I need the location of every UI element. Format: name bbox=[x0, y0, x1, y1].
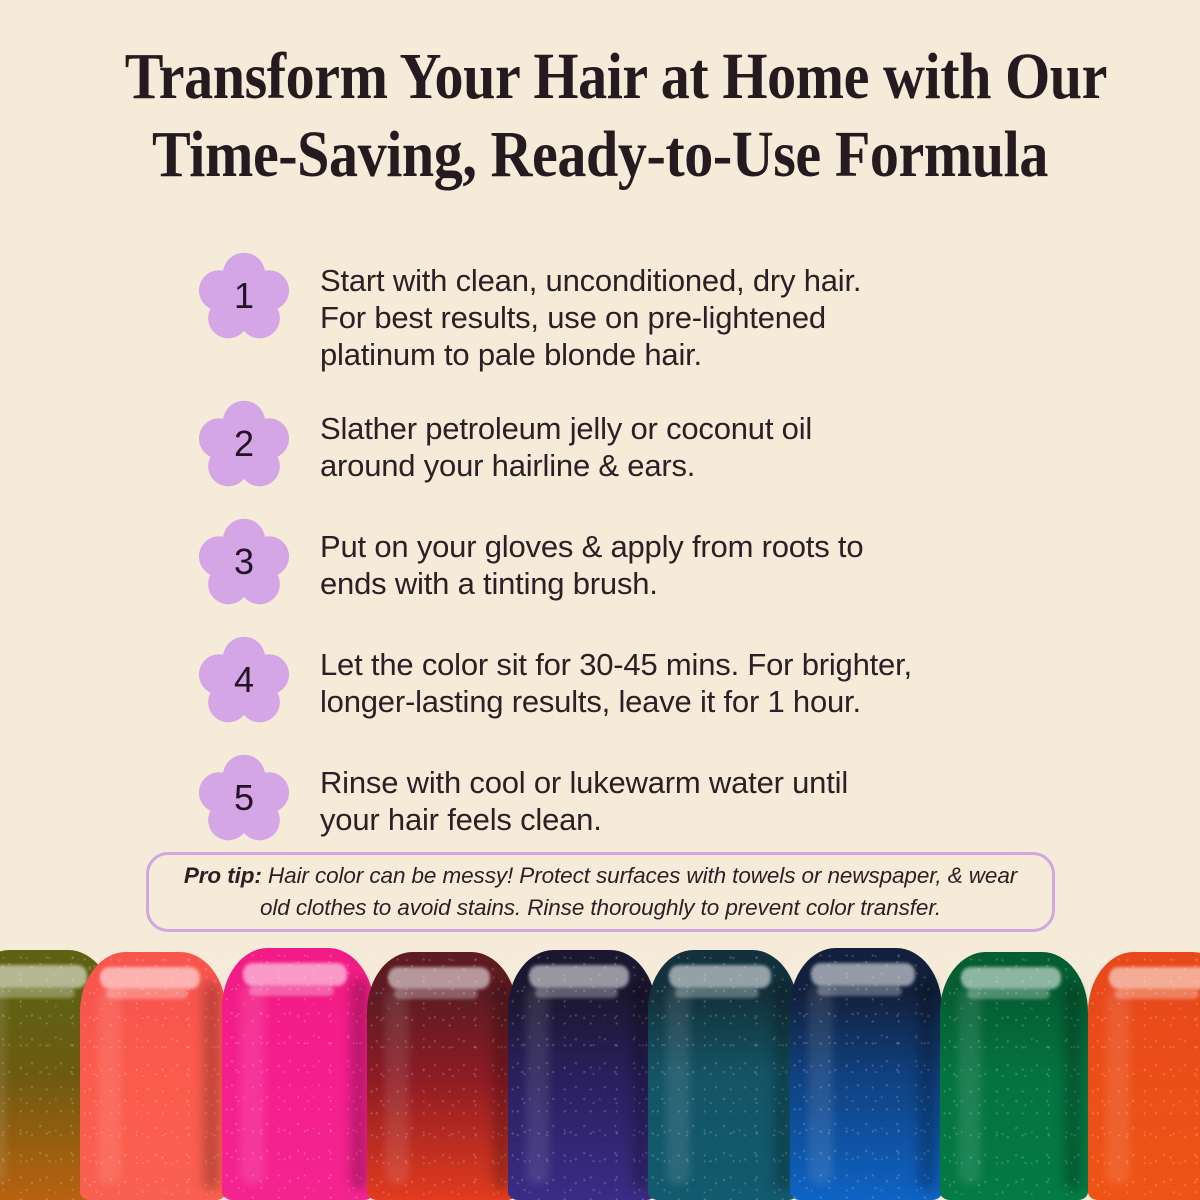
highlight-cap2 bbox=[249, 986, 334, 996]
highlight-side bbox=[666, 985, 690, 1185]
page-title-line-1: Transform Your Hair at Home with Our bbox=[125, 38, 1075, 116]
step-item: 4 Let the color sit for 30-45 mins. For … bbox=[198, 630, 1098, 726]
step-number: 5 bbox=[198, 752, 290, 844]
highlight-cap bbox=[811, 963, 914, 986]
highlight-cap bbox=[1109, 967, 1200, 989]
bottle-green bbox=[940, 952, 1088, 1200]
step-item: 3 Put on your gloves & apply from roots … bbox=[198, 512, 1098, 608]
highlight-cap2 bbox=[967, 989, 1050, 999]
flower-badge-icon: 4 bbox=[198, 634, 290, 726]
infographic-page: Transform Your Hair at Home with Our Tim… bbox=[0, 0, 1200, 1200]
highlight-cap2 bbox=[817, 986, 902, 996]
highlight-cap bbox=[100, 967, 199, 989]
highlight-side bbox=[958, 987, 982, 1185]
bottle-strip-image bbox=[0, 948, 1200, 1200]
highlight-cap bbox=[0, 965, 87, 988]
step-number: 2 bbox=[198, 398, 290, 490]
page-title-line-2: Time-Saving, Ready-to-Use Formula bbox=[125, 116, 1075, 194]
step-text: Rinse with cool or lukewarm water until … bbox=[320, 748, 848, 838]
highlight-cap bbox=[529, 965, 630, 988]
highlight-cap bbox=[243, 963, 346, 986]
pro-tip-label: Pro tip: bbox=[184, 863, 262, 888]
pro-tip-callout: Pro tip: Hair color can be messy! Protec… bbox=[146, 852, 1055, 932]
highlight-cap2 bbox=[106, 989, 188, 999]
steps-list: 1 Start with clean, unconditioned, dry h… bbox=[198, 246, 1098, 844]
step-text: Slather petroleum jelly or coconut oil a… bbox=[320, 394, 812, 484]
bottle-dark-red bbox=[367, 952, 517, 1200]
pro-tip-text: Pro tip: Hair color can be messy! Protec… bbox=[173, 860, 1028, 924]
flower-badge-icon: 3 bbox=[198, 516, 290, 608]
step-number: 4 bbox=[198, 634, 290, 726]
highlight-edge bbox=[203, 982, 221, 1190]
step-text: Let the color sit for 30-45 mins. For br… bbox=[320, 630, 912, 720]
bottle-royal-blue bbox=[790, 948, 942, 1200]
highlight-side bbox=[808, 983, 832, 1185]
highlight-side bbox=[98, 987, 121, 1185]
bottle-hot-pink bbox=[222, 948, 374, 1200]
highlight-side bbox=[385, 987, 409, 1185]
highlight-side bbox=[526, 985, 550, 1185]
step-text: Start with clean, unconditioned, dry hai… bbox=[320, 246, 861, 374]
step-number: 3 bbox=[198, 516, 290, 608]
highlight-edge bbox=[918, 978, 936, 1190]
highlight-cap bbox=[961, 967, 1062, 989]
highlight-cap2 bbox=[394, 989, 478, 999]
highlight-cap2 bbox=[0, 988, 75, 998]
page-title: Transform Your Hair at Home with Our Tim… bbox=[60, 38, 1140, 194]
highlight-edge bbox=[1064, 982, 1082, 1190]
bottle-indigo-purple bbox=[508, 950, 656, 1200]
step-item: 5 Rinse with cool or lukewarm water unti… bbox=[198, 748, 1098, 844]
highlight-cap2 bbox=[535, 988, 618, 998]
step-item: 1 Start with clean, unconditioned, dry h… bbox=[198, 246, 1098, 374]
highlight-edge bbox=[350, 978, 368, 1190]
highlight-side bbox=[1106, 987, 1130, 1185]
highlight-side bbox=[240, 983, 264, 1185]
flower-badge-icon: 2 bbox=[198, 398, 290, 490]
highlight-cap2 bbox=[675, 988, 759, 998]
flower-badge-icon: 5 bbox=[198, 752, 290, 844]
step-item: 2 Slather petroleum jelly or coconut oil… bbox=[198, 394, 1098, 490]
bottle-teal bbox=[648, 950, 798, 1200]
flower-badge-icon: 1 bbox=[198, 250, 290, 342]
highlight-cap bbox=[388, 967, 490, 989]
pro-tip-body: Hair color can be messy! Protect surface… bbox=[260, 863, 1017, 920]
highlight-cap2 bbox=[1115, 989, 1199, 999]
highlight-cap bbox=[669, 965, 771, 988]
step-number: 1 bbox=[198, 250, 290, 342]
bottle-coral-red bbox=[80, 952, 226, 1200]
highlight-side bbox=[0, 985, 6, 1185]
bottle-orange bbox=[1088, 952, 1200, 1200]
step-text: Put on your gloves & apply from roots to… bbox=[320, 512, 863, 602]
